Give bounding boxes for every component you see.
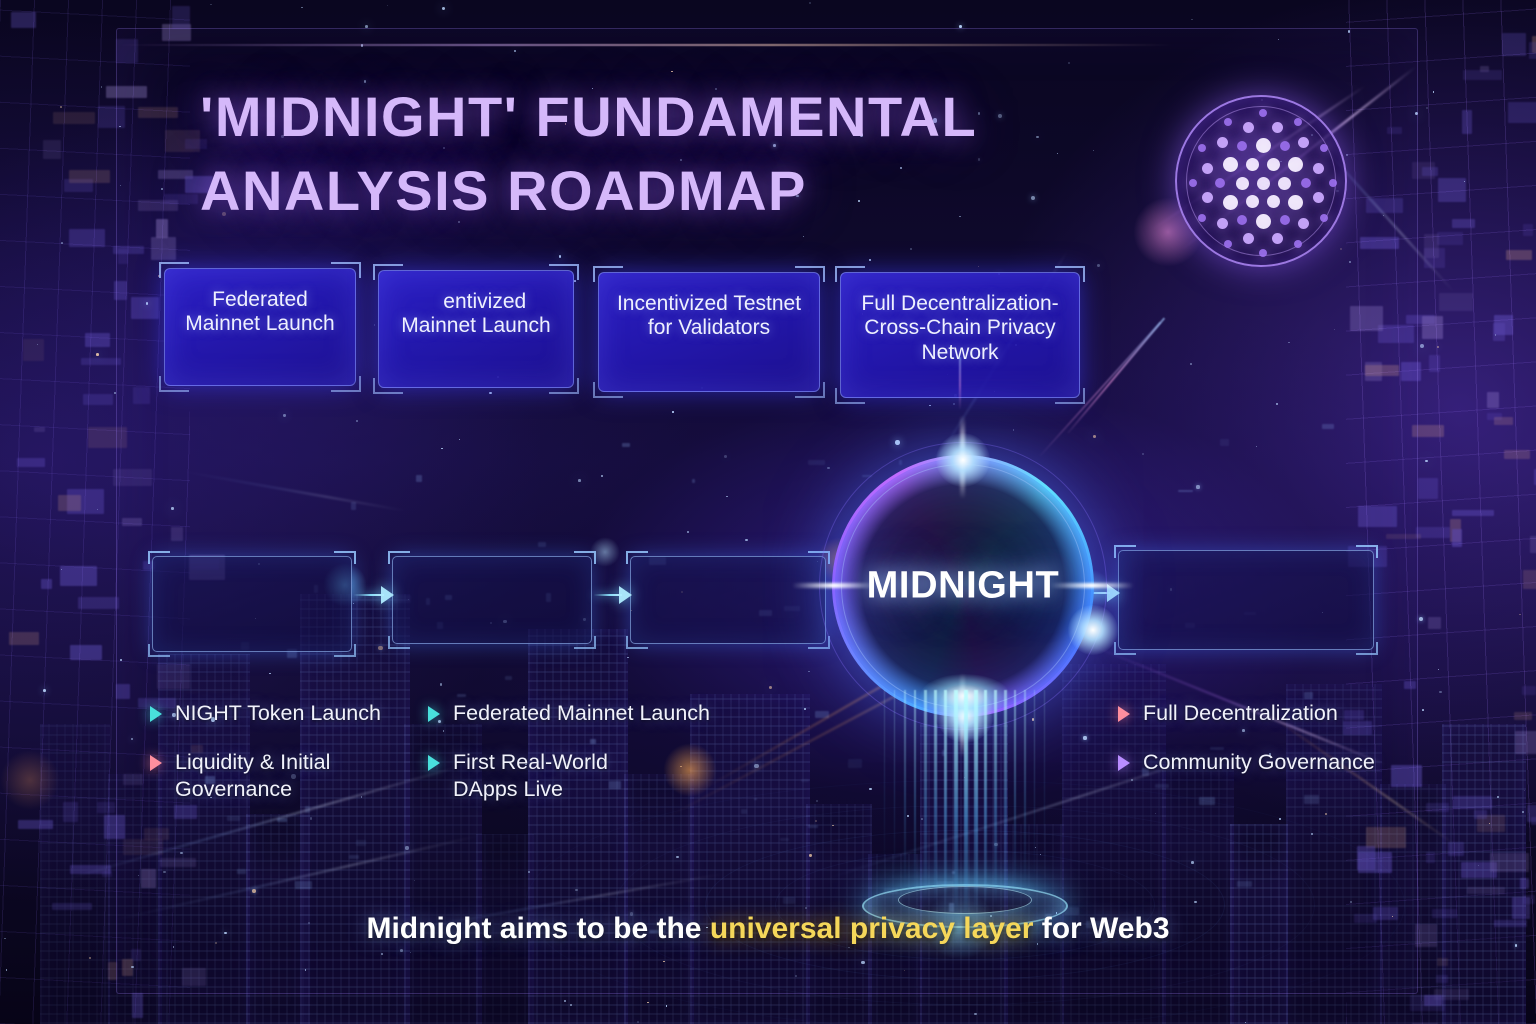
phase-corner-bracket [148, 551, 170, 564]
list-item: NIGHT Token Launch [150, 700, 430, 728]
phase-corner-bracket [574, 636, 596, 649]
center-label: MIDNIGHT [832, 565, 1094, 608]
footer-highlight: universal privacy layer [710, 912, 1034, 945]
orb-core-right [1068, 605, 1118, 655]
phase-box[interactable] [630, 556, 826, 644]
bullet-arrow-icon [428, 755, 440, 771]
arrow-shaft [594, 594, 622, 596]
infographic-canvas: 'MIDNIGHT' FUNDAMENTAL ANALYSIS ROADMAP … [0, 0, 1536, 1024]
bullet-text: First Real-WorldDApps Live [453, 749, 608, 804]
footer-part-2: for Web3 [1033, 912, 1169, 945]
list-item: Full Decentralization [1118, 700, 1428, 728]
orb-core-top [936, 433, 990, 487]
phase-corner-bracket [388, 551, 410, 564]
bullet-column-2: Federated Mainnet LaunchFirst Real-World… [428, 700, 728, 825]
phase-connector-arrow [594, 585, 632, 605]
phase-corner-bracket [626, 636, 648, 649]
phase-corner-bracket [1356, 642, 1378, 655]
arrow-shaft [354, 594, 384, 596]
footer-tagline: Midnight aims to be the universal privac… [0, 912, 1536, 946]
phase-corner-bracket [1114, 642, 1136, 655]
phase-corner-bracket [334, 551, 356, 564]
phase-box[interactable] [392, 556, 592, 644]
phase-connector-arrow [354, 585, 394, 605]
bullet-column-3: Full DecentralizationCommunity Governanc… [1118, 700, 1428, 797]
bullet-text: NIGHT Token Launch [175, 700, 381, 728]
bullet-text: Federated Mainnet Launch [453, 700, 710, 728]
phase-corner-bracket [388, 636, 410, 649]
bullet-text: Full Decentralization [1143, 700, 1338, 728]
phase-corner-bracket [1356, 545, 1378, 558]
phase-row [0, 0, 1536, 1024]
phase-corner-bracket [148, 644, 170, 657]
phase-box[interactable] [152, 556, 352, 652]
list-item: Community Governance [1118, 749, 1428, 777]
phase-corner-bracket [808, 636, 830, 649]
bullet-arrow-icon [150, 706, 162, 722]
phase-box[interactable] [1118, 550, 1374, 650]
footer-part-1: Midnight aims to be the [366, 912, 709, 945]
phase-corner-bracket [334, 644, 356, 657]
bullet-text: Community Governance [1143, 749, 1375, 777]
bullet-arrow-icon [150, 755, 162, 771]
bullet-text: Liquidity & InitialGovernance [175, 749, 330, 804]
bullet-column-1: NIGHT Token LaunchLiquidity & InitialGov… [150, 700, 430, 825]
phase-corner-bracket [574, 551, 596, 564]
list-item: Liquidity & InitialGovernance [150, 749, 430, 804]
list-item: Federated Mainnet Launch [428, 700, 728, 728]
midnight-orb: MIDNIGHT [832, 455, 1094, 717]
list-item: First Real-WorldDApps Live [428, 749, 728, 804]
phase-corner-bracket [626, 551, 648, 564]
orb-core-bottom [936, 685, 994, 743]
bullet-arrow-icon [1118, 755, 1130, 771]
bullet-arrow-icon [1118, 706, 1130, 722]
bullet-arrow-icon [428, 706, 440, 722]
phase-corner-bracket [1114, 545, 1136, 558]
